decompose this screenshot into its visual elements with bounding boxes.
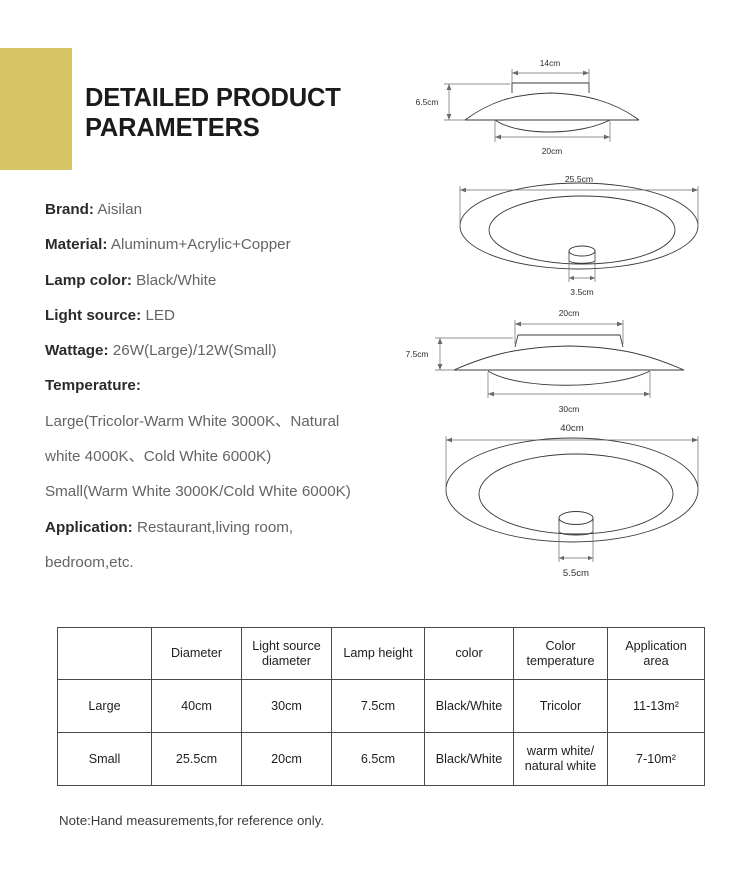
table-header-light-source-diameter-line-1: Light source xyxy=(243,639,330,654)
specification-table: Diameter Light source diameter Lamp heig… xyxy=(57,627,705,786)
large-lamp-side-view-svg: 20cm 7.5cm 30cm xyxy=(398,302,718,420)
table-header-color: color xyxy=(425,628,514,680)
table-cell-color-temperature-small-line-2: natural white xyxy=(515,759,606,774)
spec-label-temperature: Temperature: xyxy=(45,377,141,394)
table-cell-light-source-diameter-large: 30cm xyxy=(242,680,332,733)
spec-label-material: Material: xyxy=(45,236,107,253)
spec-label-application: Application: xyxy=(45,519,133,536)
spec-label-wattage: Wattage: xyxy=(45,342,109,359)
spec-row-lamp-color: Lamp color: Black/White xyxy=(45,263,445,298)
dimension-label-top-width-14cm: 14cm xyxy=(540,58,561,68)
page-title: DETAILED PRODUCT PARAMETERS xyxy=(85,84,415,144)
dimension-label-top-width-20cm: 20cm xyxy=(559,308,580,318)
table-cell-color-temperature-small: warm white/ natural white xyxy=(514,733,608,786)
table-cell-lamp-height-small: 6.5cm xyxy=(332,733,425,786)
table-header-corner xyxy=(58,628,152,680)
spec-value-brand: Aisilan xyxy=(97,201,142,218)
large-lamp-perspective-view-svg: 40cm 5.5cm xyxy=(420,412,730,587)
table-header-row: Diameter Light source diameter Lamp heig… xyxy=(58,628,705,680)
dimension-label-stem-3-5cm: 3.5cm xyxy=(570,287,593,297)
temperature-line-1: Large(Tricolor-Warm White 3000K、Natural xyxy=(45,404,445,439)
table-cell-size-large: Large xyxy=(58,680,152,733)
dimension-label-height-7-5cm: 7.5cm xyxy=(406,349,429,359)
application-line-2: bedroom,etc. xyxy=(45,545,445,580)
spec-label-light-source: Light source: xyxy=(45,307,141,324)
table-cell-lamp-height-large: 7.5cm xyxy=(332,680,425,733)
table-cell-color-large: Black/White xyxy=(425,680,514,733)
footnote: Note:Hand measurements,for reference onl… xyxy=(59,813,324,828)
spec-value-application: Restaurant,living room, xyxy=(137,519,293,536)
table-header-diameter: Diameter xyxy=(152,628,242,680)
small-lamp-perspective-view-svg: 25.5cm 3.5cm xyxy=(434,164,724,299)
drawing-small-lamp-side-view: 14cm 6.5cm 20cm xyxy=(408,52,708,162)
spec-row-application: Application: Restaurant,living room, xyxy=(45,510,445,545)
table-header-application-area: Application area xyxy=(608,628,705,680)
table-cell-diameter-large: 40cm xyxy=(152,680,242,733)
spec-value-material: Aluminum+Acrylic+Copper xyxy=(111,236,291,253)
table-cell-light-source-diameter-small: 20cm xyxy=(242,733,332,786)
table-cell-color-small: Black/White xyxy=(425,733,514,786)
table-header-color-temperature: Color temperature xyxy=(514,628,608,680)
table-cell-color-temperature-small-line-1: warm white/ xyxy=(515,744,606,759)
page-title-line-1: DETAILED PRODUCT xyxy=(85,84,415,114)
table-cell-diameter-small: 25.5cm xyxy=(152,733,242,786)
spec-label-lamp-color: Lamp color: xyxy=(45,272,132,289)
technical-drawings-panel: 14cm 6.5cm 20cm xyxy=(398,52,750,597)
spec-row-brand: Brand: Aisilan xyxy=(45,192,445,227)
table-header-color-temperature-line-2: temperature xyxy=(515,654,606,669)
table-header-light-source-diameter: Light source diameter xyxy=(242,628,332,680)
spec-value-light-source: LED xyxy=(145,307,175,324)
spec-value-lamp-color: Black/White xyxy=(136,272,216,289)
temperature-line-3: Small(Warm White 3000K/Cold White 6000K) xyxy=(45,474,445,509)
table-header-lamp-height: Lamp height xyxy=(332,628,425,680)
dimension-label-bottom-width-20cm: 20cm xyxy=(542,146,563,156)
dimension-label-diameter-40cm: 40cm xyxy=(560,423,583,434)
gold-accent-bar xyxy=(0,48,72,170)
spec-label-brand: Brand: xyxy=(45,201,94,218)
spec-row-light-source: Light source: LED xyxy=(45,298,445,333)
table-header-color-temperature-line-1: Color xyxy=(515,639,606,654)
spec-row-wattage: Wattage: 26W(Large)/12W(Small) xyxy=(45,333,445,368)
table-cell-application-area-large: 11-13m² xyxy=(608,680,705,733)
table-header-light-source-diameter-line-2: diameter xyxy=(243,654,330,669)
spec-row-material: Material: Aluminum+Acrylic+Copper xyxy=(45,227,445,262)
drawing-large-lamp-side-view: 20cm 7.5cm 30cm xyxy=(398,302,718,420)
dimension-label-height-6-5cm: 6.5cm xyxy=(416,97,439,107)
dimension-label-diameter-25-5cm: 25.5cm xyxy=(565,174,593,184)
table-row: Large 40cm 30cm 7.5cm Black/White Tricol… xyxy=(58,680,705,733)
small-lamp-side-view-svg: 14cm 6.5cm 20cm xyxy=(408,52,708,162)
spec-row-temperature: Temperature: xyxy=(45,368,445,403)
page-title-line-2: PARAMETERS xyxy=(85,114,415,144)
spec-value-wattage: 26W(Large)/12W(Small) xyxy=(113,342,277,359)
dimension-label-stem-5-5cm: 5.5cm xyxy=(563,568,589,579)
drawing-small-lamp-perspective-view: 25.5cm 3.5cm xyxy=(434,164,724,299)
table-cell-application-area-small: 7-10m² xyxy=(608,733,705,786)
temperature-line-2: white 4000K、Cold White 6000K) xyxy=(45,439,445,474)
table-cell-color-temperature-large: Tricolor xyxy=(514,680,608,733)
table-cell-size-small: Small xyxy=(58,733,152,786)
specification-list: Brand: Aisilan Material: Aluminum+Acryli… xyxy=(45,192,445,580)
table-row: Small 25.5cm 20cm 6.5cm Black/White warm… xyxy=(58,733,705,786)
table-header-application-area-line-1: Application xyxy=(609,639,703,654)
drawing-large-lamp-perspective-view: 40cm 5.5cm xyxy=(420,412,730,587)
table-header-application-area-line-2: area xyxy=(609,654,703,669)
